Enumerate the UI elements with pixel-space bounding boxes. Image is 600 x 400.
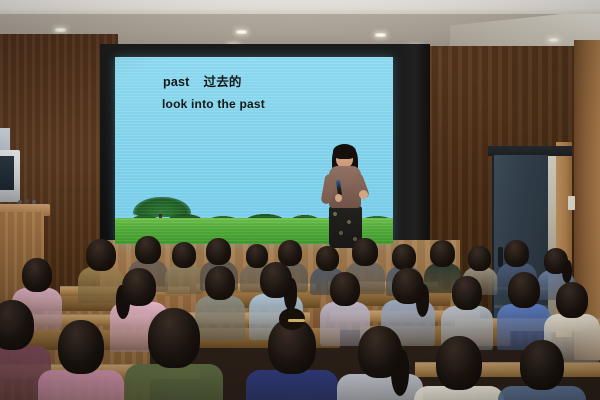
student-head (206, 238, 231, 265)
student-head (58, 320, 104, 374)
student-25 (148, 308, 246, 400)
downlight-1 (55, 28, 66, 32)
student-head (205, 266, 235, 300)
student-head (0, 300, 34, 350)
student-body (246, 370, 338, 400)
downlight-4 (236, 30, 247, 34)
student-head (316, 246, 339, 271)
student-head (148, 308, 200, 368)
student-head (392, 268, 424, 304)
student-head (452, 276, 482, 310)
student-body (38, 370, 124, 400)
slide-headword-cn: 过去的 (204, 74, 242, 89)
teacher-hand-right (359, 190, 368, 199)
slide-phrase: look into the past (162, 97, 265, 111)
student-head (135, 236, 161, 264)
student-head (520, 340, 564, 390)
student-head (392, 244, 416, 270)
student-head (430, 240, 455, 267)
student-head (22, 258, 52, 292)
student-head (358, 326, 402, 378)
screen-black-panel-right (392, 44, 430, 266)
slide-headword-line: past过去的 (163, 71, 242, 90)
student-head (504, 240, 529, 267)
podium-monitor-screen (0, 156, 14, 190)
student-head (468, 246, 491, 271)
classroom-photo: past过去的 look into the past (0, 0, 600, 400)
student-head (508, 272, 540, 308)
slide-headword-en: past (163, 75, 190, 89)
door-wall-switch[interactable] (568, 196, 575, 210)
student-body (125, 364, 223, 400)
student-head (260, 262, 292, 298)
teacher-hair-top (333, 144, 356, 159)
student-head (556, 282, 588, 318)
student-29 (520, 340, 600, 400)
student-head (352, 238, 378, 266)
downlight-7 (375, 33, 386, 37)
downlight-11 (548, 38, 559, 42)
student-head (436, 336, 482, 390)
ceiling-light-strip (0, 0, 600, 14)
teacher-hand-left (335, 194, 342, 202)
student-head (86, 239, 116, 271)
student-head (122, 268, 156, 306)
student-head (172, 242, 196, 268)
student-head (330, 272, 360, 306)
student-hair-clip (288, 319, 305, 322)
student-head (544, 248, 568, 274)
